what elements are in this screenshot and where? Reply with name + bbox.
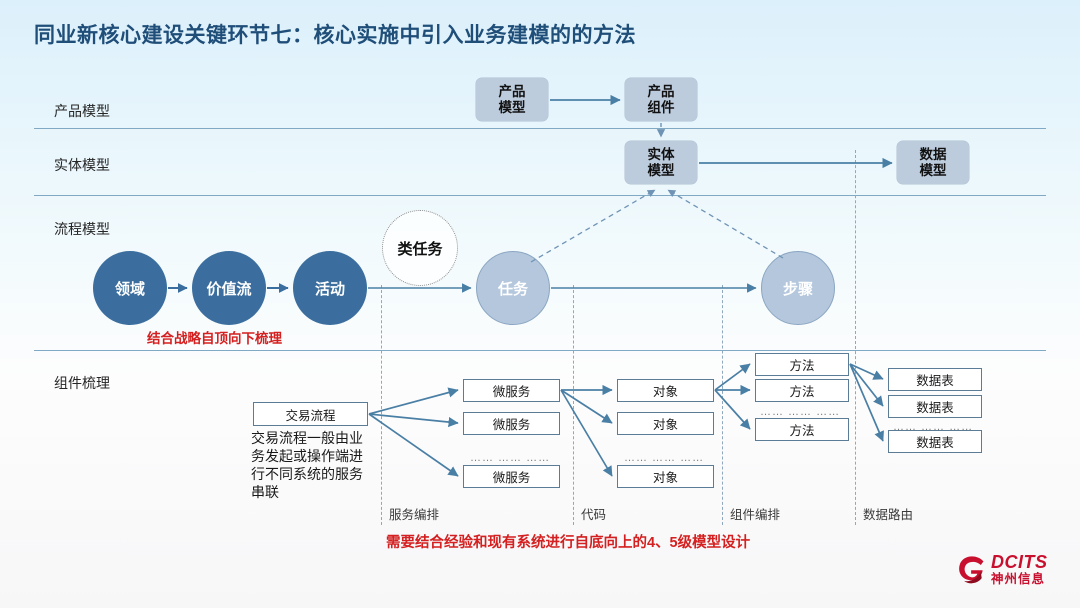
- brand-logo: DCITS 神州信息: [957, 551, 1073, 597]
- logo-text: DCITS 神州信息: [991, 553, 1048, 586]
- logo-text-cn: 神州信息: [991, 573, 1045, 586]
- connector-layer: [0, 0, 1080, 608]
- logo-text-en: DCITS: [991, 553, 1048, 571]
- swirl-e-icon: [957, 554, 987, 590]
- slide-canvas: 同业新核心建设关键环节七：核心实施中引入业务建模的的方法 产品模型 实体模型 流…: [0, 0, 1080, 608]
